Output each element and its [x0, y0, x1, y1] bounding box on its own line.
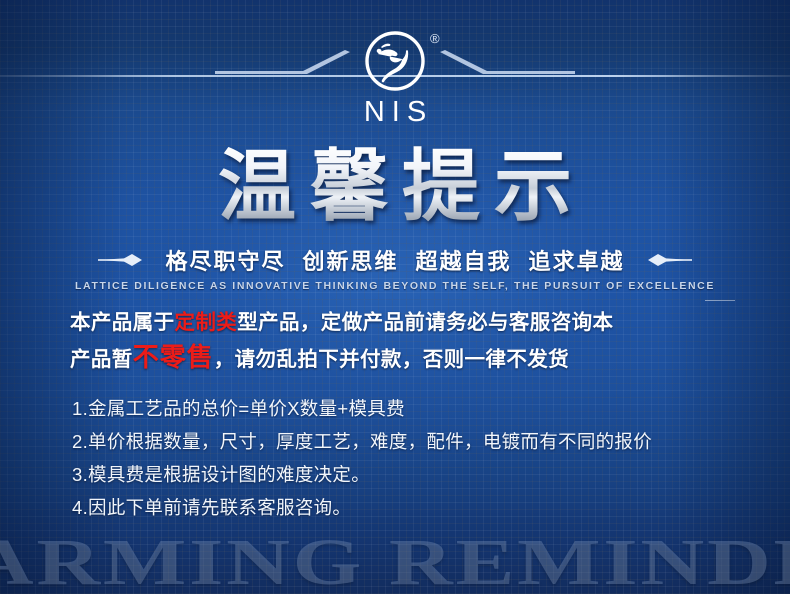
warning-divider — [705, 300, 735, 301]
warning-text: 本产品属于定制类型产品，定做产品前请务必与客服咨询本 产品暂不零售，请勿乱拍下并… — [70, 305, 735, 377]
warning-line2-part1: 产品暂 — [70, 348, 133, 371]
slogan-phrase-1: 格尽职守尽 — [165, 244, 285, 276]
promo-poster: ® NIS 温馨提示 格尽职守尽 创新思维 超越自我 追求卓越 LATTICE … — [0, 0, 790, 594]
notes-list: 1.金属工艺品的总价=单价X数量+模具费 2.单价根据数量，尺寸，厚度工艺，难度… — [72, 392, 745, 524]
arrow-left-decor-icon — [634, 253, 692, 267]
registered-mark: ® — [430, 32, 440, 45]
slogan-row: 格尽职守尽 创新思维 超越自我 追求卓越 — [98, 244, 691, 276]
warning-line2-part2: ，请勿乱拍下并付款，否则一律不发货 — [214, 348, 569, 371]
warning-line-1: 本产品属于定制类型产品，定做产品前请务必与客服咨询本 — [70, 305, 735, 340]
warning-line2-highlight: 不零售 — [133, 342, 214, 372]
footer-watermark-text: WARMING REMINDER — [0, 528, 790, 594]
footer-watermark: WARMING REMINDER — [0, 528, 790, 594]
page-title: 温馨提示 — [0, 143, 790, 230]
list-item: 1.金属工艺品的总价=单价X数量+模具费 — [72, 392, 745, 425]
warning-line-2: 产品暂不零售，请勿乱拍下并付款，否则一律不发货 — [70, 340, 735, 377]
slogan-phrase-3: 超越自我 — [416, 244, 512, 276]
slogan-phrase-4: 追求卓越 — [529, 244, 625, 276]
brand-name: NIS — [357, 96, 433, 129]
dragon-circle-logo-icon: ® — [364, 30, 426, 92]
list-item: 4.因此下单前请先联系客服咨询。 — [72, 491, 745, 524]
warning-line1-highlight: 定制类 — [175, 311, 238, 334]
slogan-band: 格尽职守尽 创新思维 超越自我 追求卓越 LATTICE DILIGENCE A… — [0, 244, 790, 292]
slogan-english: LATTICE DILIGENCE AS INNOVATIVE THINKING… — [75, 280, 715, 292]
brand-logo: ® NIS — [0, 30, 790, 129]
slogan-chinese: 格尽职守尽 创新思维 超越自我 追求卓越 — [165, 244, 624, 276]
list-item: 2.单价根据数量，尺寸，厚度工艺，难度，配件，电镀而有不同的报价 — [72, 425, 745, 458]
slogan-phrase-2: 创新思维 — [302, 244, 398, 276]
list-item: 3.模具费是根据设计图的难度决定。 — [72, 458, 745, 491]
arrow-right-decor-icon — [98, 253, 156, 267]
warning-line1-part2: 型产品，定做产品前请务必与客服咨询本 — [237, 311, 613, 334]
warning-line1-part1: 本产品属于 — [70, 311, 175, 334]
